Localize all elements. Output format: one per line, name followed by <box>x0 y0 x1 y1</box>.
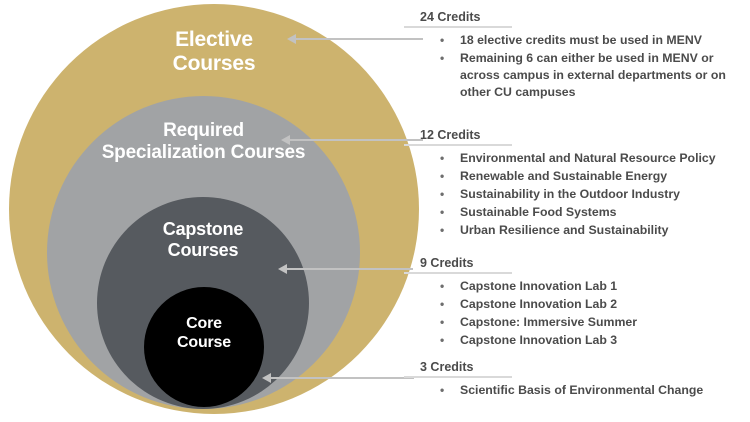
bullet-icon: • <box>440 222 444 239</box>
bullet-icon: • <box>440 332 444 349</box>
bullet-icon: • <box>440 296 444 313</box>
credit-heading-core: 3 Credits <box>404 360 512 378</box>
list-item: •Environmental and Natural Resource Poli… <box>414 150 744 167</box>
list-item-label: 18 elective credits must be used in MENV <box>460 33 702 47</box>
bullet-icon: • <box>440 278 444 295</box>
list-item-label: Capstone Innovation Lab 2 <box>460 297 617 311</box>
list-item: •Remaining 6 can either be used in MENV … <box>414 50 744 101</box>
credit-list-capstone: •Capstone Innovation Lab 1 •Capstone Inn… <box>414 278 744 349</box>
bullet-icon: • <box>440 150 444 167</box>
ring-core-course-label: Core Course <box>144 315 264 352</box>
ring-core-course[interactable]: Core Course <box>144 287 264 407</box>
bullet-icon: • <box>440 382 444 399</box>
credit-list-core: •Scientific Basis of Environmental Chang… <box>414 382 744 399</box>
credit-block-capstone: 9 Credits •Capstone Innovation Lab 1 •Ca… <box>414 256 744 350</box>
credit-block-specialization: 12 Credits •Environmental and Natural Re… <box>414 128 744 240</box>
bullet-icon: • <box>440 204 444 221</box>
credit-block-core: 3 Credits •Scientific Basis of Environme… <box>414 360 744 400</box>
credit-list-specialization: •Environmental and Natural Resource Poli… <box>414 150 744 239</box>
credit-list-elective: •18 elective credits must be used in MEN… <box>414 32 744 101</box>
credit-heading-elective: 24 Credits <box>404 10 512 28</box>
credit-heading-capstone: 9 Credits <box>404 256 512 274</box>
bullet-icon: • <box>440 186 444 203</box>
bullet-icon: • <box>440 314 444 331</box>
list-item-label: Remaining 6 can either be used in MENV o… <box>460 51 726 99</box>
list-item-label: Environmental and Natural Resource Polic… <box>460 151 716 165</box>
credit-heading-specialization: 12 Credits <box>404 128 512 146</box>
diagram-canvas: Elective Courses Required Specialization… <box>0 0 750 422</box>
list-item-label: Renewable and Sustainable Energy <box>460 169 667 183</box>
list-item-label: Urban Resilience and Sustainability <box>460 223 668 237</box>
list-item: •Renewable and Sustainable Energy <box>414 168 744 185</box>
list-item-label: Capstone: Immersive Summer <box>460 315 637 329</box>
bullet-icon: • <box>440 168 444 185</box>
list-item: •Scientific Basis of Environmental Chang… <box>414 382 744 399</box>
bullet-icon: • <box>440 50 444 67</box>
list-item: •Capstone: Immersive Summer <box>414 314 744 331</box>
list-item-label: Sustainability in the Outdoor Industry <box>460 187 680 201</box>
list-item-label: Sustainable Food Systems <box>460 205 617 219</box>
list-item: •Urban Resilience and Sustainability <box>414 222 744 239</box>
credit-block-elective: 24 Credits •18 elective credits must be … <box>414 10 744 102</box>
list-item: •Capstone Innovation Lab 1 <box>414 278 744 295</box>
list-item: •Capstone Innovation Lab 2 <box>414 296 744 313</box>
ring-elective-courses-label: Elective Courses <box>9 28 419 77</box>
list-item: •Sustainable Food Systems <box>414 204 744 221</box>
list-item: •18 elective credits must be used in MEN… <box>414 32 744 49</box>
bullet-icon: • <box>440 32 444 49</box>
list-item-label: Capstone Innovation Lab 3 <box>460 333 617 347</box>
list-item-label: Scientific Basis of Environmental Change <box>460 383 703 397</box>
list-item-label: Capstone Innovation Lab 1 <box>460 279 617 293</box>
list-item: •Sustainability in the Outdoor Industry <box>414 186 744 203</box>
list-item: •Capstone Innovation Lab 3 <box>414 332 744 349</box>
